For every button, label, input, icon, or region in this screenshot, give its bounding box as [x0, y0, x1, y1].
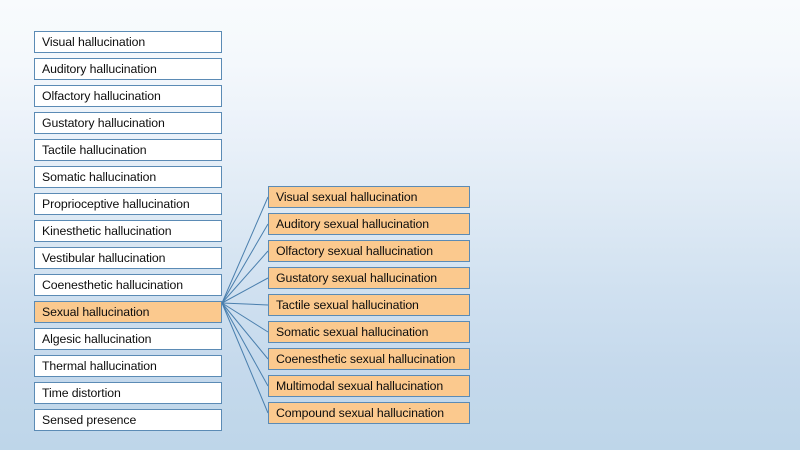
node-sexual-subtype-6[interactable]: Coenesthetic sexual hallucination — [268, 348, 470, 370]
connector-line-0 — [222, 197, 268, 303]
node-hallucination-type-11[interactable]: Algesic hallucination — [34, 328, 222, 350]
node-hallucination-type-2[interactable]: Olfactory hallucination — [34, 85, 222, 107]
connector-line-3 — [222, 278, 268, 303]
connector-line-2 — [222, 251, 268, 303]
node-sexual-subtype-3[interactable]: Gustatory sexual hallucination — [268, 267, 470, 289]
node-hallucination-type-13[interactable]: Time distortion — [34, 382, 222, 404]
node-hallucination-type-label: Sensed presence — [42, 414, 136, 426]
node-sexual-subtype-label: Olfactory sexual hallucination — [276, 245, 433, 257]
node-sexual-subtype-4[interactable]: Tactile sexual hallucination — [268, 294, 470, 316]
node-hallucination-type-label: Gustatory hallucination — [42, 117, 165, 129]
node-sexual-subtype-label: Visual sexual hallucination — [276, 191, 417, 203]
node-hallucination-type-8[interactable]: Vestibular hallucination — [34, 247, 222, 269]
node-hallucination-type-label: Auditory hallucination — [42, 63, 157, 75]
node-hallucination-type-label: Somatic hallucination — [42, 171, 156, 183]
node-sexual-subtype-0[interactable]: Visual sexual hallucination — [268, 186, 470, 208]
slide-canvas: Visual hallucinationAuditory hallucinati… — [0, 0, 800, 450]
node-hallucination-type-label: Vestibular hallucination — [42, 252, 165, 264]
node-hallucination-type-label: Olfactory hallucination — [42, 90, 161, 102]
node-hallucination-type-7[interactable]: Kinesthetic hallucination — [34, 220, 222, 242]
node-sexual-subtype-label: Multimodal sexual hallucination — [276, 380, 443, 392]
node-sexual-subtype-2[interactable]: Olfactory sexual hallucination — [268, 240, 470, 262]
connector-line-4 — [222, 303, 268, 305]
node-hallucination-type-label: Thermal hallucination — [42, 360, 157, 372]
node-sexual-subtype-label: Compound sexual hallucination — [276, 407, 444, 419]
connector-line-6 — [222, 303, 268, 359]
node-hallucination-type-9[interactable]: Coenesthetic hallucination — [34, 274, 222, 296]
node-sexual-subtype-5[interactable]: Somatic sexual hallucination — [268, 321, 470, 343]
node-hallucination-type-14[interactable]: Sensed presence — [34, 409, 222, 431]
node-hallucination-type-label: Proprioceptive hallucination — [42, 198, 190, 210]
node-hallucination-type-0[interactable]: Visual hallucination — [34, 31, 222, 53]
node-hallucination-type-label: Coenesthetic hallucination — [42, 279, 183, 291]
node-sexual-subtype-label: Gustatory sexual hallucination — [276, 272, 437, 284]
node-hallucination-type-6[interactable]: Proprioceptive hallucination — [34, 193, 222, 215]
node-sexual-subtype-label: Somatic sexual hallucination — [276, 326, 428, 338]
node-hallucination-type-12[interactable]: Thermal hallucination — [34, 355, 222, 377]
node-hallucination-type-4[interactable]: Tactile hallucination — [34, 139, 222, 161]
node-hallucination-type-5[interactable]: Somatic hallucination — [34, 166, 222, 188]
node-hallucination-type-10[interactable]: Sexual hallucination — [34, 301, 222, 323]
node-sexual-subtype-label: Auditory sexual hallucination — [276, 218, 429, 230]
connector-line-8 — [222, 303, 268, 413]
node-hallucination-type-label: Kinesthetic hallucination — [42, 225, 171, 237]
node-hallucination-type-label: Time distortion — [42, 387, 121, 399]
node-sexual-subtype-1[interactable]: Auditory sexual hallucination — [268, 213, 470, 235]
node-hallucination-type-label: Algesic hallucination — [42, 333, 151, 345]
node-hallucination-type-label: Visual hallucination — [42, 36, 145, 48]
node-hallucination-type-3[interactable]: Gustatory hallucination — [34, 112, 222, 134]
node-sexual-subtype-8[interactable]: Compound sexual hallucination — [268, 402, 470, 424]
node-sexual-subtype-label: Tactile sexual hallucination — [276, 299, 419, 311]
connector-line-5 — [222, 303, 268, 332]
node-hallucination-type-label: Tactile hallucination — [42, 144, 147, 156]
connector-line-1 — [222, 224, 268, 303]
node-hallucination-type-1[interactable]: Auditory hallucination — [34, 58, 222, 80]
node-sexual-subtype-label: Coenesthetic sexual hallucination — [276, 353, 455, 365]
node-sexual-subtype-7[interactable]: Multimodal sexual hallucination — [268, 375, 470, 397]
node-hallucination-type-label: Sexual hallucination — [42, 306, 149, 318]
connector-line-7 — [222, 303, 268, 386]
